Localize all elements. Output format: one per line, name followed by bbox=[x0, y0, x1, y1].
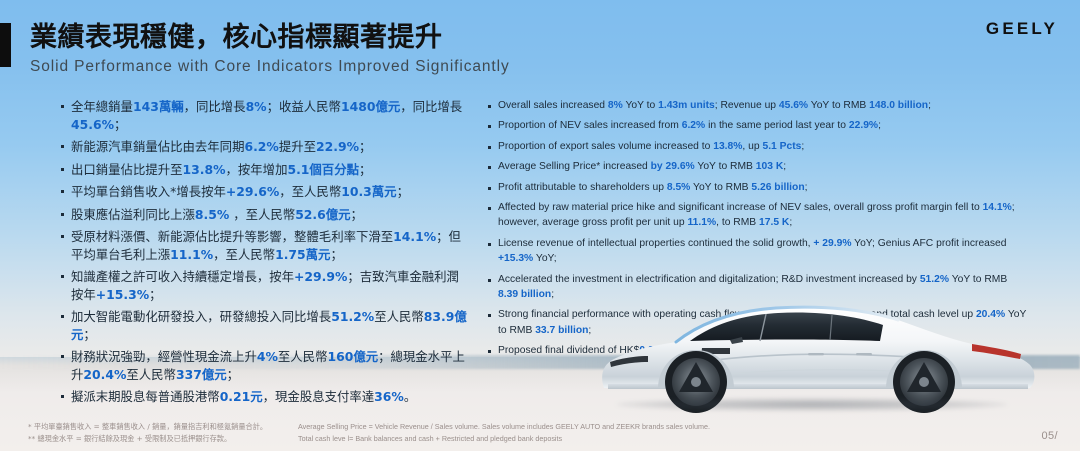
highlight-value: 20.4% bbox=[83, 367, 126, 382]
highlight-value: 6.2% bbox=[682, 120, 705, 131]
highlight-value: 13.8% bbox=[713, 141, 742, 152]
highlight-value: 45.6% bbox=[779, 100, 808, 111]
highlight-value: 11.1% bbox=[170, 247, 213, 262]
highlight-value: 8.39 billion bbox=[498, 289, 551, 300]
bullet-item-en: Overall sales increased 8% YoY to 1.43m … bbox=[487, 98, 1027, 113]
highlight-value: 148.0 billion bbox=[869, 100, 928, 111]
bullet-item-en: Proportion of export sales volume increa… bbox=[487, 139, 1027, 154]
highlight-value: 22.9% bbox=[849, 120, 878, 131]
bullet-item-cn: 知識產權之許可收入持續穩定增長，按年+29.9%；吉致汽車金融利潤按年+15.3… bbox=[60, 268, 470, 303]
bullet-item-en: License revenue of intellectual properti… bbox=[487, 236, 1027, 267]
car-image bbox=[580, 296, 1050, 416]
geely-logo: GEELY bbox=[986, 19, 1058, 39]
highlight-value: 11.1% bbox=[687, 217, 716, 228]
highlight-value: +29.6% bbox=[226, 184, 279, 199]
highlight-value: 51.2% bbox=[331, 309, 374, 324]
highlight-value: 6.2% bbox=[244, 139, 278, 154]
highlight-value: 17.5 K bbox=[759, 217, 789, 228]
footnote-2-en: Total cash leve l= Bank balances and cas… bbox=[298, 433, 562, 445]
highlight-value: +29.9% bbox=[294, 269, 347, 284]
car-door-handle bbox=[808, 353, 824, 355]
highlight-value: 8.5% bbox=[667, 182, 690, 193]
highlight-value: 14.1% bbox=[393, 229, 436, 244]
bullet-item-cn: 加大智能電動化研發投入，研發總投入同比增長51.2%至人民幣83.9億元； bbox=[60, 308, 470, 343]
footnote-row: * 平均單臺銷售收入 = 整車銷售收入 / 銷量，銷量指吉利和極氪銷量合計。 A… bbox=[28, 421, 1028, 433]
highlight-value: 8.5% bbox=[195, 207, 229, 222]
bullet-item-cn: 出口銷量佔比提升至13.8%，按年增加5.1個百分點； bbox=[60, 161, 470, 179]
footnote-2-cn: ** 總現金水平 = 銀行結餘及現金 + 受限制及已抵押銀行存款。 bbox=[28, 433, 298, 445]
bullet-item-en: Profit attributable to shareholders up 8… bbox=[487, 180, 1027, 195]
highlight-value: + 29.9% bbox=[813, 238, 851, 249]
highlight-value: by 29.6% bbox=[651, 161, 695, 172]
title-accent-bar bbox=[0, 23, 11, 67]
highlight-value: 8% bbox=[246, 99, 267, 114]
highlight-value: 13.8% bbox=[183, 162, 226, 177]
page-title-cn: 業績表現穩健，核心指標顯著提升 bbox=[30, 22, 510, 54]
page-subtitle-en: Solid Performance with Core Indicators I… bbox=[30, 58, 510, 76]
highlight-value: 1480億元 bbox=[341, 99, 400, 114]
bullet-item-cn: 受原材料漲價、新能源佔比提升等影響，整體毛利率下滑至14.1%；但平均單台毛利上… bbox=[60, 228, 470, 263]
bullet-item-cn: 財務狀況強勁，經營性現金流上升4%至人民幣160億元；總現金水平上升20.4%至… bbox=[60, 348, 470, 383]
highlight-value: 83.9億元 bbox=[71, 309, 467, 342]
bullet-item-en: Average Selling Price* increased by 29.6… bbox=[487, 159, 1027, 174]
highlight-value: 4% bbox=[257, 349, 278, 364]
bullet-column-chinese: 全年總銷量143萬輛，同比增長8%；收益人民幣1480億元，同比增長45.6%；… bbox=[60, 98, 470, 411]
highlight-value: 1.75萬元 bbox=[275, 247, 330, 262]
highlight-value: 45.6% bbox=[71, 117, 114, 132]
bullet-item-cn: 新能源汽車銷量佔比由去年同期6.2%提升至22.9%； bbox=[60, 138, 470, 156]
slide-root: 業績表現穩健，核心指標顯著提升 Solid Performance with C… bbox=[0, 0, 1080, 451]
highlight-value: +15.3% bbox=[96, 287, 149, 302]
bullet-item-en: Affected by raw material price hike and … bbox=[487, 200, 1027, 231]
footnote-1-cn: * 平均單臺銷售收入 = 整車銷售收入 / 銷量，銷量指吉利和極氪銷量合計。 bbox=[28, 421, 298, 433]
highlight-value: 14.1% bbox=[983, 202, 1012, 213]
footnote-1-en: Average Selling Price = Vehicle Revenue … bbox=[298, 421, 710, 433]
highlight-value: 10.3萬元 bbox=[341, 184, 396, 199]
page-number: 05/ bbox=[1042, 430, 1059, 442]
page-title-block: 業績表現穩健，核心指標顯著提升 Solid Performance with C… bbox=[30, 22, 510, 76]
highlight-value: 5.1 Pcts bbox=[762, 141, 801, 152]
highlight-value: 8% bbox=[608, 100, 623, 111]
bullet-list-chinese: 全年總銷量143萬輛，同比增長8%；收益人民幣1480億元，同比增長45.6%；… bbox=[60, 98, 470, 406]
car-shadow bbox=[616, 398, 1008, 411]
highlight-value: +15.3% bbox=[498, 253, 533, 264]
footnote-row: ** 總現金水平 = 銀行結餘及現金 + 受限制及已抵押銀行存款。 Total … bbox=[28, 433, 1028, 445]
bullet-item-cn: 平均單台銷售收入*增長按年+29.6%，至人民幣10.3萬元； bbox=[60, 183, 470, 201]
bullet-item-en: Proportion of NEV sales increased from 6… bbox=[487, 118, 1027, 133]
highlight-value: 5.26 billion bbox=[751, 182, 804, 193]
car-rear-door-handle bbox=[856, 353, 872, 355]
highlight-value: 36% bbox=[374, 389, 404, 404]
highlight-value: 103 K bbox=[756, 161, 783, 172]
footnotes: * 平均單臺銷售收入 = 整車銷售收入 / 銷量，銷量指吉利和極氪銷量合計。 A… bbox=[28, 421, 1028, 444]
bullet-item-cn: 全年總銷量143萬輛，同比增長8%；收益人民幣1480億元，同比增長45.6%； bbox=[60, 98, 470, 133]
bullet-item-cn: 擬派末期股息每普通股港幣0.21元，現金股息支付率達36%。 bbox=[60, 388, 470, 406]
highlight-value: 22.9% bbox=[316, 139, 359, 154]
highlight-value: 51.2% bbox=[920, 274, 949, 285]
highlight-value: 1.43m units bbox=[658, 100, 715, 111]
highlight-value: 5.1個百分點 bbox=[287, 162, 359, 177]
highlight-value: 0.21元 bbox=[220, 389, 263, 404]
highlight-value: 52.6億元 bbox=[295, 207, 350, 222]
highlight-value: 337億元 bbox=[176, 367, 227, 382]
bullet-item-cn: 股東應佔溢利同比上漲8.5% ，至人民幣52.6億元； bbox=[60, 206, 470, 224]
highlight-value: 160億元 bbox=[327, 349, 378, 364]
highlight-value: 143萬輛 bbox=[133, 99, 184, 114]
